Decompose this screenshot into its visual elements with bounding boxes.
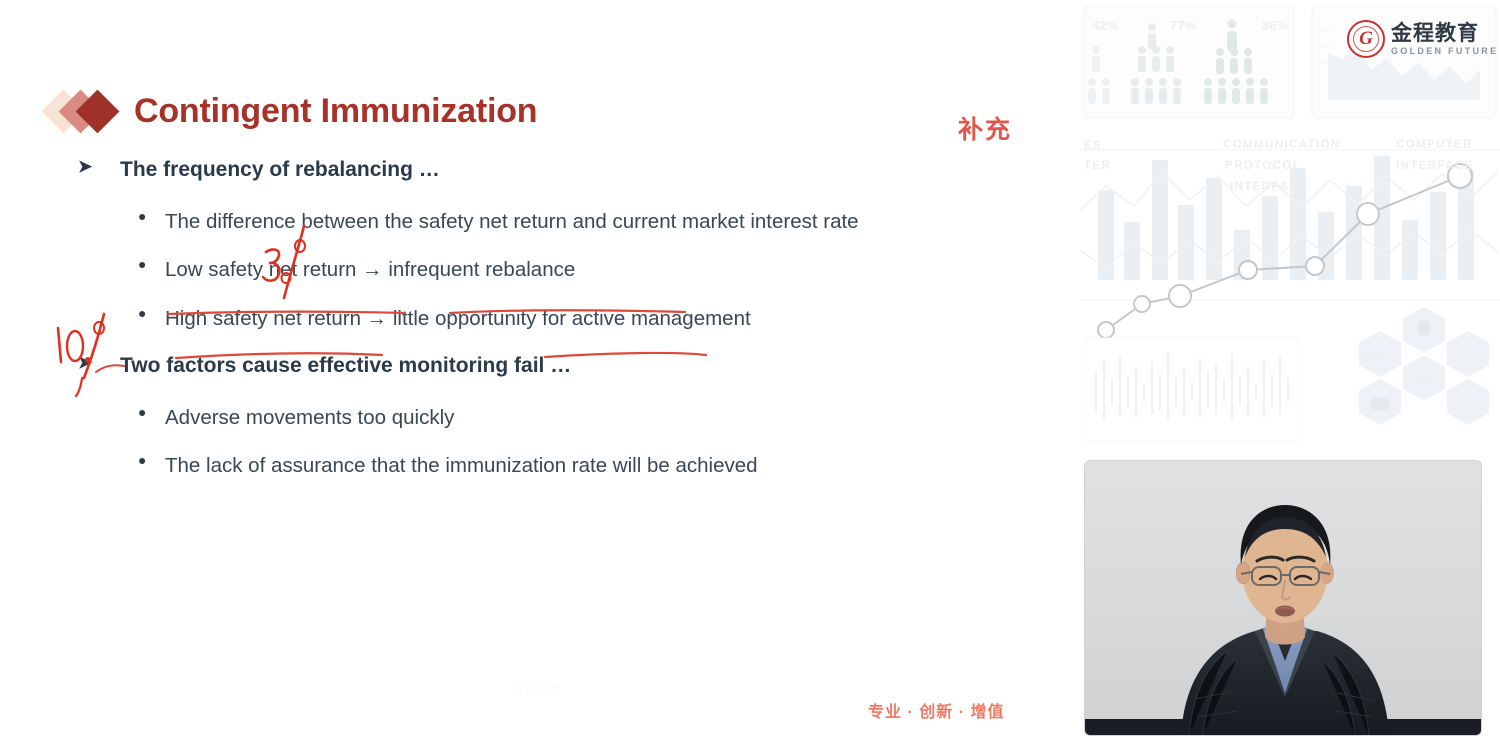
dot-bullet-icon: ● [138, 402, 165, 424]
slide-outline: ➤ The frequency of rebalancing … ● The d… [78, 155, 1038, 485]
outline-item-text: Two factors cause effective monitoring f… [120, 351, 571, 381]
outline-item-level2: ● High safety net return → little opport… [78, 303, 1038, 335]
ghost-label: INTERFACE [1396, 160, 1474, 172]
outline-item-level2: ● The lack of assurance that the immuniz… [78, 450, 1038, 482]
ghost-percent: 72 [1417, 372, 1431, 387]
brand-logo: G 金程教育® GOLDEN FUTURE [1347, 20, 1498, 58]
dot-bullet-icon: ● [138, 303, 165, 325]
ghost-label: PROTOCOL [1225, 160, 1301, 172]
ghost-label: COMMUNICATION [1223, 139, 1341, 151]
instructor-webcam-feed[interactable] [1085, 461, 1481, 735]
slide-canvas: Contingent Immunization 补充 ➤ The frequen… [0, 0, 1080, 750]
outline-item-level2: ● Adverse movements too quickly [78, 402, 1038, 434]
slide-title-row: Contingent Immunization [48, 82, 537, 140]
background-infographic: ES TER COMMUNICATION PROTOCOL INTERFACE … [1080, 0, 1500, 460]
ghost-percent: 42% [1092, 18, 1118, 33]
outline-item-level1: ➤ The frequency of rebalancing … [78, 155, 1038, 185]
brand-name-en: GOLDEN FUTURE [1391, 47, 1498, 56]
ghost-label: TER [1084, 160, 1111, 172]
outline-item-text: The frequency of rebalancing … [120, 155, 440, 185]
brand-tagline: 专业 · 创新 · 增值 [868, 698, 1004, 722]
ghost-percent: 40% [1361, 346, 1387, 361]
outline-item-text: The lack of assurance that the immunizat… [165, 450, 758, 482]
arrow-bullet-icon: ➤ [78, 155, 120, 180]
outline-item-text: The difference between the safety net re… [165, 206, 859, 238]
arrow-bullet-icon: ➤ [78, 351, 120, 376]
brand-wordmark: 金程教育® GOLDEN FUTURE [1391, 23, 1498, 56]
outline-item-text: Adverse movements too quickly [165, 402, 454, 434]
supplement-annotation: 补充 [958, 110, 1012, 146]
outline-item-level2: ● Low safety net return → infrequent reb… [78, 254, 1038, 286]
outline-item-text: Low safety net return → infrequent rebal… [165, 254, 575, 286]
ghost-label: ES [1084, 140, 1102, 152]
brand-name-cn-text: 金程教育 [1391, 22, 1479, 45]
ghost-footer-text: 金程教育 [512, 682, 564, 698]
ghost-percent: 77% [1170, 18, 1196, 33]
diamond-decoration-icon [48, 88, 126, 134]
outline-item-text: High safety net return → little opportun… [165, 303, 751, 335]
outline-item-level1: ➤ Two factors cause effective monitoring… [78, 351, 1038, 381]
outline-item-level2: ● The difference between the safety net … [78, 206, 1038, 238]
ghost-label: COMPUTER [1396, 139, 1473, 151]
dot-bullet-icon: ● [138, 450, 165, 472]
dot-bullet-icon: ● [138, 206, 165, 228]
ghost-percent: 86% [1262, 18, 1288, 33]
ghost-label: INTERFACE [1230, 181, 1308, 193]
seal-letter: G [1349, 22, 1383, 56]
dot-bullet-icon: ● [138, 254, 165, 276]
page-title: Contingent Immunization [134, 92, 537, 131]
brand-name-cn: 金程教育® [1391, 23, 1498, 44]
seal-icon: G [1347, 20, 1385, 58]
